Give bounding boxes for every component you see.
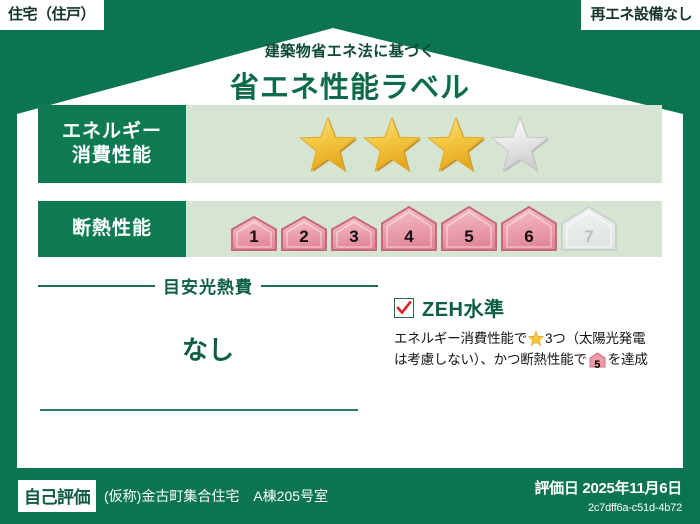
star-rating — [299, 116, 549, 172]
evaluation-date: 評価日 2025年11月6日 — [534, 480, 682, 497]
zeh-description: エネルギー消費性能で3つ（太陽光発電は考慮しない）、かつ断熱性能で5を達成 — [394, 329, 662, 375]
renewable-energy-tag: 再エネ設備なし — [581, 0, 700, 30]
zeh-heading-row: ZEH水準 — [394, 293, 662, 322]
insulation-performance-row: 断熱性能 1234567 — [38, 201, 662, 257]
grade-value: 3 — [330, 227, 378, 247]
grade-badge: 5 — [440, 205, 498, 251]
energy-performance-label: 住宅（住戸） 再エネ設備なし 建築物省エネ法に基づく 省エネ性能ラベル エネルギ… — [0, 0, 700, 524]
zeh-checkbox[interactable] — [394, 298, 414, 318]
inline-grade-value: 5 — [589, 357, 606, 374]
insulation-performance-label: 断熱性能 — [38, 201, 186, 257]
self-evaluation-badge: 自己評価 — [18, 480, 96, 512]
grade-value: 7 — [560, 227, 618, 247]
grade-badge: 2 — [280, 215, 328, 251]
utility-cost-underline — [40, 409, 358, 411]
star-filled-icon — [299, 116, 357, 172]
inline-star-icon — [528, 331, 544, 346]
zeh-desc-part3: を達成 — [608, 352, 648, 367]
grade-badge: 4 — [380, 205, 438, 251]
grade-badge: 1 — [230, 215, 278, 251]
energy-performance-value — [186, 105, 662, 183]
grade-value: 5 — [440, 227, 498, 247]
building-name: (仮称)金古町集合住宅 A棟205号室 — [104, 486, 328, 506]
utility-cost-section: 目安光熱費 なし — [38, 271, 378, 421]
evaluation-id: 2c7dff6a-c51d-4b72 — [588, 502, 682, 514]
inline-grade-badge: 5 — [589, 352, 606, 375]
zeh-title: ZEH水準 — [422, 293, 505, 322]
housing-type-tag: 住宅（住戸） — [0, 0, 104, 30]
divider-left — [38, 285, 155, 287]
grade-value: 2 — [280, 227, 328, 247]
label-content: エネルギー 消費性能 断熱性能 1234567 目安光熱費 なし — [38, 105, 662, 467]
footer-right-block: 評価日 2025年11月6日 2c7dff6a-c51d-4b72 — [534, 477, 682, 516]
footer-bar: 自己評価 (仮称)金古町集合住宅 A棟205号室 評価日 2025年11月6日 … — [0, 468, 700, 524]
grade-value: 6 — [500, 227, 558, 247]
energy-performance-label: エネルギー 消費性能 — [38, 105, 186, 183]
energy-performance-label-line1: エネルギー — [62, 120, 162, 144]
star-filled-icon — [427, 116, 485, 172]
energy-performance-label-line2: 消費性能 — [72, 144, 152, 168]
lower-section: 目安光熱費 なし ZEH水準 エネルギー消費性能で3つ（太陽光発電は考慮しな — [38, 271, 662, 421]
zeh-desc-stars: 3つ（太陽光発電 — [545, 331, 645, 346]
check-icon — [396, 300, 412, 316]
star-filled-icon — [363, 116, 421, 172]
zeh-section: ZEH水準 エネルギー消費性能で3つ（太陽光発電は考慮しない）、かつ断熱性能で5… — [378, 271, 662, 421]
divider-right — [261, 285, 378, 287]
grade-scale: 1234567 — [230, 205, 618, 253]
insulation-performance-value: 1234567 — [186, 201, 662, 257]
zeh-desc-part1: エネルギー消費性能で — [394, 331, 527, 346]
energy-performance-row: エネルギー 消費性能 — [38, 105, 662, 183]
grade-badge: 6 — [500, 205, 558, 251]
grade-badge: 7 — [560, 205, 618, 251]
utility-cost-heading-row: 目安光熱費 — [38, 273, 378, 298]
grade-badge: 3 — [330, 215, 378, 251]
utility-cost-heading: 目安光熱費 — [163, 273, 253, 298]
utility-cost-value: なし — [38, 330, 378, 367]
star-empty-icon — [491, 116, 549, 172]
zeh-desc-part2: は考慮しない）、かつ断熱性能で — [394, 352, 587, 367]
grade-value: 1 — [230, 227, 278, 247]
grade-value: 4 — [380, 227, 438, 247]
